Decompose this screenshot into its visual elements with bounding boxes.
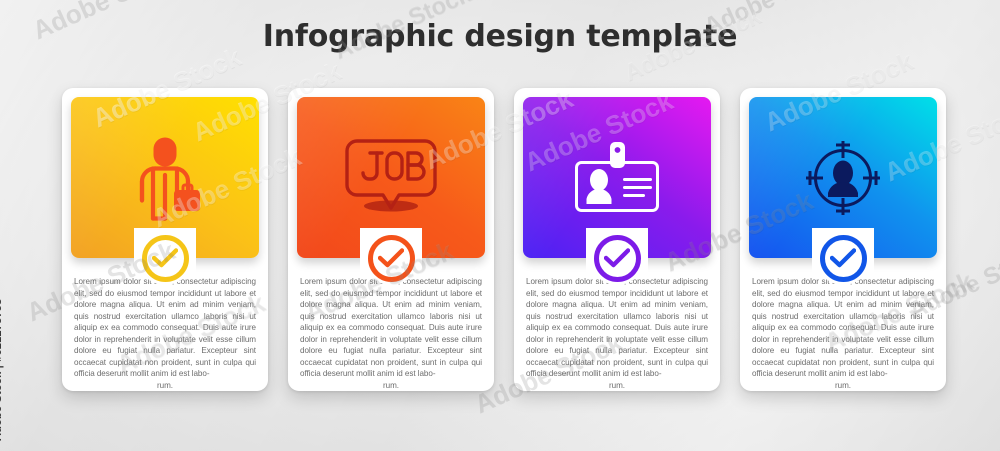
card-body-paragraph: Lorem ipsum dolor sit amet, consectetur … [300,277,482,378]
check-icon [378,248,404,268]
infographic-card[interactable]: Lorem ipsum dolor sit amet, consectetur … [740,88,946,391]
card-body-paragraph: Lorem ipsum dolor sit amet, consectetur … [526,277,708,378]
infographic-canvas: Adobe Stock Adobe Stock Adobe Stock Adob… [0,0,1000,451]
card-body-last-line: rum. [752,380,934,392]
card-body-text: Lorem ipsum dolor sit amet, consectetur … [300,276,482,391]
check-icon [152,248,178,268]
card-body-last-line: rum. [300,380,482,392]
card-body-paragraph: Lorem ipsum dolor sit amet, consectetur … [752,277,934,378]
card-body-text: Lorem ipsum dolor sit amet, consectetur … [752,276,934,391]
status-check-badge [364,231,418,285]
status-check-badge [590,231,644,285]
card-body-text: Lorem ipsum dolor sit amet, consectetur … [526,276,708,391]
check-icon [604,248,630,268]
check-icon [830,248,856,268]
card-body-text: Lorem ipsum dolor sit amet, consectetur … [74,276,256,391]
infographic-card[interactable]: Lorem ipsum dolor sit amet, consectetur … [514,88,720,391]
page-title: Infographic design template [0,20,1000,54]
status-check-badge [138,231,192,285]
status-check-badge [816,231,870,285]
infographic-card[interactable]: Lorem ipsum dolor sit amet, consectetur … [62,88,268,391]
stock-credit-label: Adobe Stock | #621273758 [0,299,4,441]
card-body-last-line: rum. [526,380,708,392]
card-body-last-line: rum. [74,380,256,392]
card-body-paragraph: Lorem ipsum dolor sit amet, consectetur … [74,277,256,378]
infographic-card[interactable]: Lorem ipsum dolor sit amet, consectetur … [288,88,494,391]
